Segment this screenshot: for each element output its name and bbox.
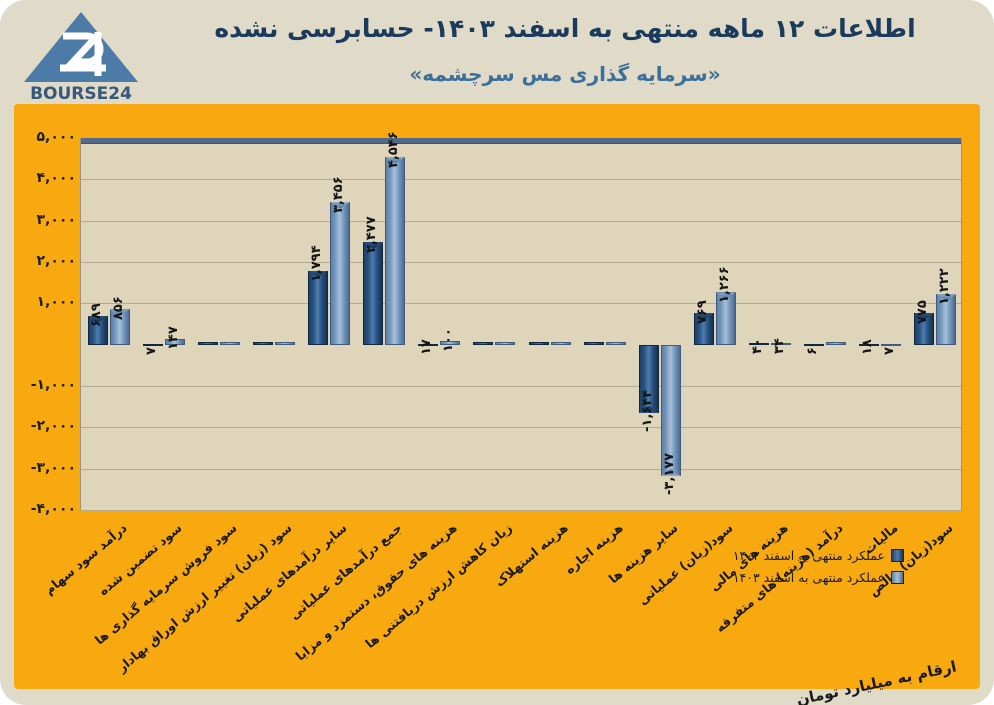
bar-value-label: ۱۰۰ <box>441 328 456 352</box>
bar-body <box>220 342 240 345</box>
bar <box>198 342 218 345</box>
page-subtitle: «سرمایه گذاری مس سرچشمه» <box>150 62 980 86</box>
bar-value-label: ۱۸ <box>860 339 875 355</box>
x-axis-category-label: جمع درآمدهای عملیاتی <box>196 520 406 700</box>
bar-body <box>495 342 515 345</box>
y-axis-tick-label: -۳,۰۰۰ <box>18 460 76 476</box>
bar-body <box>363 242 383 344</box>
bar-body <box>253 342 273 345</box>
x-axis-category-label: سایر درآمدهای عملیاتی <box>141 520 351 700</box>
plot-area: ۶۸۹۸۵۶۷۱۴۷۱,۷۹۴۳,۴۵۶۲,۴۷۷۴,۵۴۶۱۷۱۰۰-۱,۶۴… <box>80 138 962 510</box>
bar-value-label: ۴۰ <box>750 338 765 354</box>
bar-body <box>473 342 493 345</box>
bar <box>253 342 273 345</box>
bar-value-label: ۴,۵۴۶ <box>386 131 401 168</box>
gridline <box>81 469 961 470</box>
x-axis-category-label: هزینه های حقوق، دستمزد و مزایا <box>251 520 461 700</box>
bar <box>606 342 626 345</box>
bar-value-label: ۲,۴۷۷ <box>364 217 379 254</box>
bar-value-label: ۸۵۶ <box>111 296 126 320</box>
bar-value-label: ۱,۷۹۴ <box>309 245 324 282</box>
y-axis-tick-label: ۵,۰۰۰ <box>18 129 76 145</box>
unit-note: ارقام به میلیارد تومان <box>795 657 958 705</box>
bourse24-logo: BOURSE24 <box>16 6 146 104</box>
bar-value-label: ۷۷۵ <box>915 300 930 324</box>
legend-item[interactable]: عملکرد منتهی به اسفند ۱۴۰۲ <box>704 544 904 566</box>
bar-value-label: ۳,۴۵۶ <box>331 176 346 213</box>
gridline <box>81 262 961 263</box>
gridline <box>81 179 961 180</box>
x-axis-category-label: هزینه اجاره <box>417 520 627 700</box>
x-axis-category-label: سود (زیان) تغییر ارزش اوراق بهادار <box>86 520 296 700</box>
bar-body <box>584 342 604 345</box>
y-axis: ۵,۰۰۰۴,۰۰۰۳,۰۰۰۲,۰۰۰۱,۰۰۰-۱,۰۰۰-۲,۰۰۰-۳,… <box>14 138 76 510</box>
y-axis-tick-label: ۲,۰۰۰ <box>18 253 76 269</box>
bar <box>584 342 604 345</box>
x-axis-category-label: هزینه استهلاک <box>361 520 571 700</box>
bar-body <box>551 342 571 345</box>
bar-value-label: ۱۴۷ <box>166 326 181 350</box>
chart-card: BOURSE24 اطلاعات ۱۲ ماهه منتهی به اسفند … <box>0 0 994 705</box>
bar-body <box>275 342 295 345</box>
chart-header: BOURSE24 اطلاعات ۱۲ ماهه منتهی به اسفند … <box>0 0 994 108</box>
zero-axis-line <box>81 138 961 143</box>
bar-value-label: ۱۷ <box>419 339 434 355</box>
bar-value-label: ۳۴ <box>772 338 787 354</box>
bar-value-label: ۱,۲۲۲ <box>937 268 952 305</box>
x-axis-category-label: سود فروش سرمایه گذاری ها <box>31 520 241 700</box>
y-axis-tick-label: ۱,۰۰۰ <box>18 294 76 310</box>
bar-value-label: ۷ <box>144 347 159 355</box>
bar-body <box>198 342 218 345</box>
bar <box>473 342 493 345</box>
bar-value-label: ۱,۲۶۶ <box>717 267 732 304</box>
legend-label: عملکرد منتهی به اسفند ۱۴۰۲ <box>733 548 885 563</box>
bar <box>385 157 405 345</box>
legend-swatch <box>891 571 904 584</box>
bar <box>551 342 571 345</box>
bar-value-label: ۷ <box>882 347 897 355</box>
legend-swatch <box>891 549 904 562</box>
y-axis-tick-label: ۴,۰۰۰ <box>18 170 76 186</box>
bar <box>363 242 383 344</box>
bar <box>220 342 240 345</box>
bar-body <box>606 342 626 345</box>
bar-value-label: ۷۶۹ <box>695 300 710 324</box>
bar <box>826 342 846 345</box>
x-axis-category-label: سایر هزینه ها <box>472 520 682 700</box>
gridline <box>81 510 961 511</box>
y-axis-tick-label: -۴,۰۰۰ <box>18 501 76 517</box>
y-axis-tick-label: ۳,۰۰۰ <box>18 212 76 228</box>
bar <box>495 342 515 345</box>
y-axis-tick-label: -۱,۰۰۰ <box>18 377 76 393</box>
bar-value-label: ۶۸۹ <box>89 303 104 327</box>
bar-body <box>529 342 549 345</box>
bar <box>529 342 549 345</box>
chart-plate: ۵,۰۰۰۴,۰۰۰۳,۰۰۰۲,۰۰۰۱,۰۰۰-۱,۰۰۰-۲,۰۰۰-۳,… <box>14 104 980 689</box>
bar-body <box>330 202 350 345</box>
page-title: اطلاعات ۱۲ ماهه منتهی به اسفند ۱۴۰۳- حسا… <box>150 14 980 43</box>
chart-legend: عملکرد منتهی به اسفند ۱۴۰۲عملکرد منتهی ب… <box>704 544 904 588</box>
gridline <box>81 427 961 428</box>
x-axis-category-label: زیان کاهش ارزش دریافتنی ها <box>306 520 516 700</box>
gridline <box>81 303 961 304</box>
gridline <box>81 386 961 387</box>
bar-value-label: -۳,۱۷۷ <box>662 453 677 495</box>
gridline <box>81 221 961 222</box>
bar-value-label: -۱,۶۴۴ <box>640 390 655 432</box>
bar <box>330 202 350 345</box>
legend-item[interactable]: عملکرد منتهی به اسفند ۱۴۰۳ <box>704 566 904 588</box>
bar-value-label: ۶ <box>805 347 820 355</box>
logo-wordmark: BOURSE24 <box>30 84 132 104</box>
bar <box>275 342 295 345</box>
bar-body <box>826 342 846 345</box>
bar-body <box>385 157 405 345</box>
legend-label: عملکرد منتهی به اسفند ۱۴۰۳ <box>733 570 885 585</box>
y-axis-tick-label: -۲,۰۰۰ <box>18 418 76 434</box>
